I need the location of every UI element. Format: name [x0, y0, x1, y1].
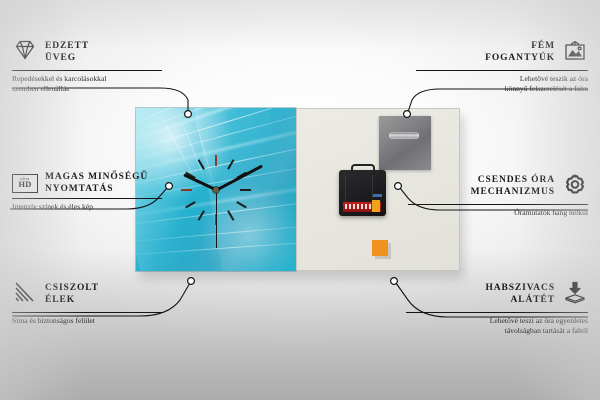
- callout-metal-handles: FÉM FOGANTYÚK Lehetővé teszik az óra kö: [416, 38, 588, 93]
- diamond-icon: [12, 38, 38, 67]
- ultra-hd-icon-large-text: HD: [19, 181, 32, 189]
- callout-header: ultra HD MAGAS MINŐSÉGŰ NYOMTATÁS: [12, 172, 192, 195]
- movement-seam: [345, 176, 346, 204]
- callout-subtitle: Repedésekkel és karcolásokkal szemben el…: [12, 74, 184, 93]
- callout-silent-mechanism: CSENDES ÓRA MECHANIZMUS Óramutatók hang …: [408, 172, 588, 218]
- foam-pad: [372, 240, 388, 256]
- callout-tempered-glass: EDZETT ÜVEG Repedésekkel és karcolásokka…: [12, 38, 184, 93]
- movement-handle: [351, 164, 375, 174]
- callout-title: CSENDES ÓRA MECHANIZMUS: [471, 175, 555, 198]
- battery-plus: [372, 200, 380, 212]
- picture-frame-icon: [562, 38, 588, 67]
- clock-second-hand: [216, 190, 217, 248]
- battery-text: [345, 204, 371, 209]
- movement-battery-label: [343, 202, 381, 212]
- callout-polished-edges: CSISZOLT ÉLEK Sima és biztonságos felüle…: [12, 280, 184, 326]
- callout-rule: [12, 198, 162, 199]
- callout-foam-pad: HABSZIVACS ALÁTÉT Lehetővé teszi az óra …: [406, 280, 588, 335]
- callout-subtitle: Intenzív színek és éles kép: [12, 202, 192, 212]
- callout-high-quality-print: ultra HD MAGAS MINŐSÉGŰ NYOMTATÁS Intenz…: [12, 172, 192, 212]
- hanger-slot: [389, 132, 419, 139]
- infographic-canvas: EDZETT ÜVEG Repedésekkel és karcolásokka…: [0, 0, 600, 400]
- polished-edges-icon: [12, 280, 38, 309]
- callout-title: HABSZIVACS ALÁTÉT: [485, 283, 555, 306]
- callout-rule: [12, 70, 162, 71]
- metal-hanger-plate: [379, 116, 431, 170]
- clock-movement: [339, 170, 386, 216]
- callout-title: CSISZOLT ÉLEK: [45, 283, 99, 306]
- callout-subtitle: Sima és biztonságos felület: [12, 316, 184, 326]
- callout-rule: [408, 204, 588, 205]
- callout-rule: [416, 70, 588, 71]
- callout-header: FÉM FOGANTYÚK: [416, 38, 588, 67]
- movement-marker: [373, 194, 382, 197]
- gear-icon: [562, 172, 588, 201]
- callout-subtitle: Lehetővé teszik az óra könnyű felszerelé…: [416, 74, 588, 93]
- callout-header: CSENDES ÓRA MECHANIZMUS: [408, 172, 588, 201]
- callout-header: EDZETT ÜVEG: [12, 38, 184, 67]
- callout-title: EDZETT ÜVEG: [45, 41, 89, 64]
- callout-subtitle: Óramutatók hang nélkül: [408, 208, 588, 218]
- callout-header: HABSZIVACS ALÁTÉT: [406, 280, 588, 309]
- clock-hand-hub: [213, 187, 219, 193]
- callout-subtitle: Lehetővé teszi az óra egyenletes távolsá…: [406, 316, 588, 335]
- callout-rule: [12, 312, 162, 313]
- callout-title: MAGAS MINŐSÉGŰ NYOMTATÁS: [45, 172, 148, 195]
- callout-title: FÉM FOGANTYÚK: [485, 41, 555, 64]
- press-pad-icon: [562, 280, 588, 309]
- callout-rule: [406, 312, 588, 313]
- callout-header: CSISZOLT ÉLEK: [12, 280, 184, 309]
- ultra-hd-icon: ultra HD: [12, 174, 38, 193]
